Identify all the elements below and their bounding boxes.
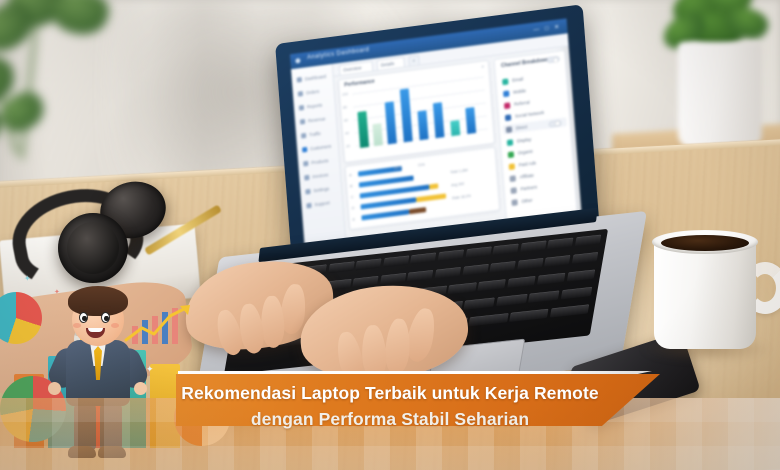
- sidebar-item-dashboard[interactable]: Dashboard: [297, 73, 327, 84]
- affiliate-icon: [510, 175, 516, 182]
- channel-label: Direct: [516, 124, 528, 130]
- invoice-icon: [304, 175, 309, 181]
- channel-item-email[interactable]: Email›: [502, 75, 524, 87]
- traffic-icon: [301, 133, 306, 139]
- chevron-right-icon: ›: [529, 185, 531, 190]
- chevron-right-icon: ›: [518, 89, 520, 94]
- box-icon: [303, 161, 308, 167]
- channel-label: Social Network: [515, 110, 544, 119]
- channel-item-mobile[interactable]: Mobile›: [503, 86, 526, 98]
- chevron-right-icon: ›: [522, 101, 524, 106]
- sidebar-item-revenue[interactable]: Revenue: [300, 115, 326, 125]
- partners-icon: [510, 187, 516, 194]
- mascot-hand-right: [134, 382, 147, 395]
- window-controls[interactable]: — □ ✕: [533, 23, 561, 34]
- pie-chart-upper-left: [0, 292, 42, 344]
- panel-title: Channel Breakdown: [501, 57, 549, 69]
- direct-icon: [506, 126, 512, 133]
- coffee-surface: [661, 235, 749, 251]
- bar-jan: [357, 111, 369, 148]
- performance-chart-card: Performance × 100 80 60 40 20: [338, 60, 495, 163]
- channel-item-organic[interactable]: Organic: [508, 147, 534, 159]
- sidebar-item-support[interactable]: Support: [306, 199, 330, 209]
- h-cat-label: A: [349, 173, 352, 177]
- bar-mar: [385, 102, 397, 145]
- sidebar-item-label: Support: [314, 200, 330, 207]
- bar-aug: [465, 108, 476, 135]
- y-tick: 100: [342, 92, 348, 97]
- tab-add[interactable]: +: [408, 55, 420, 66]
- channel-item-affiliate[interactable]: Affiliate›: [509, 171, 534, 183]
- tab-details[interactable]: Details: [376, 57, 405, 71]
- bar-may: [417, 110, 428, 140]
- channel-label: Other: [521, 197, 532, 203]
- channel-item-referral[interactable]: Referral›: [504, 98, 530, 110]
- mascot-hair: [68, 286, 128, 316]
- mascot-brow-left: [79, 306, 89, 309]
- channel-label: Email: [512, 76, 523, 82]
- chevron-right-icon: ›: [515, 77, 517, 82]
- sidebar-item-invoices[interactable]: Invoices: [304, 171, 328, 181]
- h-cat-label: E: [353, 217, 356, 221]
- plant-left: [0, 0, 150, 182]
- channel-item-display[interactable]: Display: [507, 135, 532, 147]
- hbar-c-secondary: [429, 183, 438, 189]
- tab-overview[interactable]: Overview: [339, 61, 373, 75]
- social-icon: [505, 114, 511, 121]
- display-icon: [507, 139, 513, 146]
- hbar-d-secondary: [416, 193, 446, 202]
- panel-toggle[interactable]: [547, 56, 560, 64]
- app-logo-icon: [295, 58, 300, 64]
- direct-toggle[interactable]: [548, 119, 561, 127]
- sidebar-item-label: Traffic: [309, 131, 321, 138]
- bar-jun: [433, 102, 445, 138]
- mascot-eye-left: [79, 312, 88, 323]
- hbar-e-primary: [361, 209, 409, 220]
- banner-top-rule: [178, 371, 652, 374]
- sidebar-item-label: Products: [311, 158, 329, 165]
- sidebar-item-orders[interactable]: Orders: [298, 88, 320, 98]
- report-icon: [299, 105, 304, 111]
- promo-image-scene: Analytics Dashboard — □ ✕ Dashboard Orde…: [0, 0, 780, 470]
- mascot-brow-right: [101, 306, 111, 309]
- mascot-cheek-left: [73, 323, 81, 328]
- stat-avg: Avg 342: [451, 182, 464, 188]
- sidebar-item-label: Settings: [313, 186, 329, 193]
- sidebar-item-label: Revenue: [308, 116, 326, 123]
- window-title: Analytics Dashboard: [307, 47, 370, 61]
- channel-item-paid-ads[interactable]: Paid Ads›: [508, 159, 536, 172]
- mascot-hand-left: [48, 382, 61, 395]
- y-tick: 80: [343, 105, 347, 110]
- stat-total: Total 1,284: [450, 168, 468, 174]
- channel-item-other[interactable]: Other›: [511, 195, 533, 207]
- bar-jul: [450, 120, 460, 136]
- sidebar-item-label: Invoices: [312, 172, 328, 179]
- plant-pot: [678, 42, 762, 148]
- card-close-icon[interactable]: ×: [481, 64, 484, 70]
- title-banner: [176, 374, 660, 426]
- card-title: Performance: [344, 79, 375, 89]
- sparkle-icon: ✦: [24, 274, 31, 283]
- sidebar-item-customers[interactable]: Customers: [302, 143, 332, 154]
- h-cat-label: C: [351, 195, 354, 199]
- channel-label: Display: [517, 137, 532, 144]
- channel-label: Organic: [518, 149, 534, 156]
- h-cat-label: B: [350, 184, 353, 188]
- users-icon: [302, 147, 307, 153]
- bar-apr: [400, 88, 413, 142]
- sidebar-item-label: Reports: [307, 103, 323, 110]
- bar-feb: [372, 123, 383, 146]
- sidebar-item-products[interactable]: Products: [303, 157, 329, 167]
- chevron-right-icon: ›: [528, 161, 530, 166]
- chevron-right-icon: ›: [526, 174, 528, 179]
- sidebar-item-label: Customers: [310, 144, 331, 152]
- other-icon: [511, 199, 517, 206]
- sidebar-item-settings[interactable]: Settings: [305, 185, 329, 195]
- mobile-icon: [503, 90, 509, 97]
- h-annotation: 72%: [417, 163, 424, 168]
- grid-icon: [297, 77, 302, 83]
- referral-icon: [504, 102, 510, 109]
- chevron-right-icon: ›: [525, 198, 527, 203]
- y-tick: 60: [344, 118, 348, 123]
- channel-breakdown-panel: Channel Breakdown Email› Mobile› Referra…: [494, 50, 579, 230]
- sidebar-item-reports[interactable]: Reports: [299, 102, 323, 112]
- sidebar-item-traffic[interactable]: Traffic: [301, 130, 321, 140]
- paid-ads-icon: [509, 163, 515, 170]
- channel-item-partners[interactable]: Partners›: [510, 183, 537, 195]
- hbar-d-primary: [361, 197, 417, 209]
- help-icon: [306, 203, 311, 209]
- money-icon: [300, 119, 305, 125]
- email-icon: [502, 78, 508, 85]
- hbar-e-tertiary: [409, 207, 426, 214]
- sidebar-item-label: Orders: [306, 89, 320, 96]
- hbar-b-primary: [359, 175, 414, 187]
- mascot-eye-right: [101, 312, 110, 323]
- organic-icon: [508, 151, 514, 158]
- stat-rate: Rate 18.2%: [452, 194, 471, 200]
- gear-icon: [305, 189, 310, 195]
- sidebar-item-label: Dashboard: [305, 74, 327, 82]
- y-tick: 40: [345, 131, 349, 136]
- cart-icon: [298, 91, 303, 97]
- y-tick: 20: [346, 144, 350, 149]
- mascot-cheek-right: [111, 323, 119, 328]
- h-cat-label: D: [352, 206, 355, 210]
